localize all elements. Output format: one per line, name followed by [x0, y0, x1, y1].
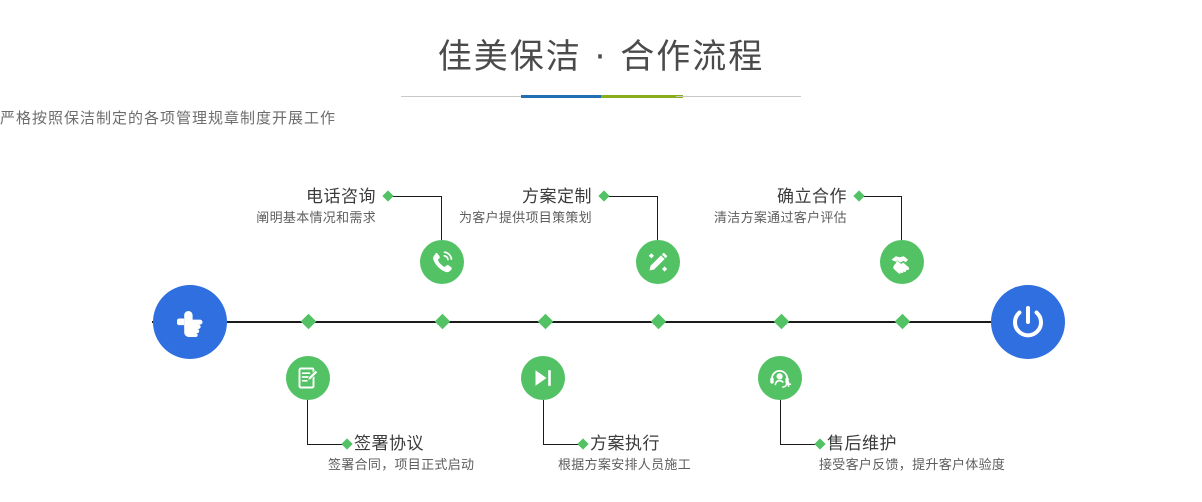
step-title: 售后维护: [827, 432, 1005, 457]
step-icon-skip-forward[interactable]: [521, 356, 565, 400]
phone-ring-icon: [429, 249, 455, 275]
connector-vertical: [307, 400, 308, 444]
document-edit-icon: [295, 365, 321, 391]
connector-vertical: [901, 196, 902, 240]
axis-node-dot: [538, 314, 554, 330]
step-title: 方案定制: [320, 185, 592, 210]
step-label-4: 方案执行 根据方案安排人员施工: [590, 432, 691, 475]
handshake-icon: [889, 249, 916, 276]
step-title: 签署协议: [354, 432, 474, 457]
step-title: 方案执行: [590, 432, 691, 457]
divider-line-left: [401, 96, 526, 97]
step-desc: 为客户提供项目策策划: [320, 210, 592, 229]
connector-horizontal: [859, 196, 902, 197]
axis-node-dot: [651, 314, 667, 330]
connector-horizontal: [307, 444, 345, 445]
divider-line-right: [676, 96, 801, 97]
skip-forward-icon: [530, 365, 556, 391]
timeline-end-node[interactable]: [991, 285, 1065, 359]
divider-segment-green: [601, 95, 683, 98]
step-desc: 接受客户反馈，提升客户体验度: [819, 457, 1005, 476]
pen-ruler-icon: [645, 249, 671, 275]
step-desc: 签署合同，项目正式启动: [328, 457, 474, 476]
pointing-hand-icon: [170, 302, 210, 342]
step-desc: 清洁方案通过客户评估: [575, 210, 847, 229]
connector-horizontal: [543, 444, 581, 445]
divider-segment-blue: [521, 95, 601, 98]
step-title: 确立合作: [575, 185, 847, 210]
step-desc: 根据方案安排人员施工: [558, 457, 691, 476]
connector-vertical: [543, 400, 544, 444]
step-label-5: 确立合作 清洁方案通过客户评估: [575, 185, 847, 228]
timeline-start-node[interactable]: [153, 285, 227, 359]
flowchart-canvas: 佳美保洁 · 合作流程 严格按照保洁制定的各项管理规章制度开展工作: [0, 0, 1202, 502]
step-icon-pen-ruler[interactable]: [636, 240, 680, 284]
connector-end-dot: [577, 438, 588, 449]
power-icon: [1007, 301, 1049, 343]
title-divider: [401, 95, 801, 98]
step-label-2: 签署协议 签署合同，项目正式启动: [354, 432, 474, 475]
connector-end-dot: [341, 438, 352, 449]
step-icon-phone-ring[interactable]: [420, 240, 464, 284]
connector-vertical: [780, 400, 781, 444]
header: 佳美保洁 · 合作流程: [0, 0, 1202, 79]
page-title: 佳美保洁 · 合作流程: [0, 0, 1202, 79]
axis-node-dot: [435, 314, 451, 330]
step-icon-document-edit[interactable]: [286, 356, 330, 400]
axis-node-dot: [895, 314, 911, 330]
timeline-axis: [152, 321, 1050, 323]
step-icon-handshake[interactable]: [880, 240, 924, 284]
connector-end-dot: [814, 438, 825, 449]
step-label-6: 售后维护 接受客户反馈，提升客户体验度: [827, 432, 1005, 475]
connector-end-dot: [853, 190, 864, 201]
axis-node-dot: [301, 314, 317, 330]
step-label-3: 方案定制 为客户提供项目策策划: [320, 185, 592, 228]
step-icon-headset-add[interactable]: [758, 356, 802, 400]
page-subtitle: 严格按照保洁制定的各项管理规章制度开展工作: [0, 107, 1202, 128]
axis-node-dot: [774, 314, 790, 330]
headset-add-icon: [767, 365, 793, 391]
connector-horizontal: [780, 444, 818, 445]
